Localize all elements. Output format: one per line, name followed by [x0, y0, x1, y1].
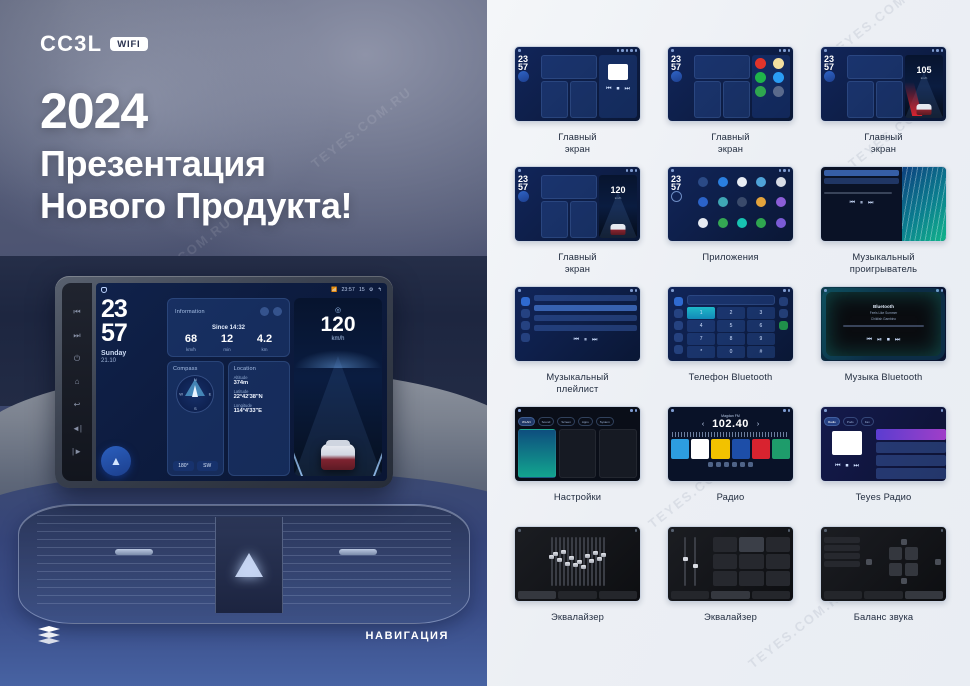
gallery-item[interactable]: Баланс звука	[813, 526, 954, 646]
information-card	[541, 55, 597, 79]
thumbnail-caption: Телефон Bluetooth	[689, 371, 773, 383]
gear-icon	[941, 529, 944, 532]
compass-title: Compass	[173, 366, 218, 372]
dial-key: #	[747, 346, 775, 358]
clock-date: 21.10	[101, 358, 163, 364]
home-icon	[671, 49, 674, 52]
app-icon-dvr	[734, 197, 750, 215]
home-icon	[824, 289, 827, 292]
track-row	[534, 325, 637, 331]
wifi-icon	[932, 49, 935, 52]
stat-value: 68	[185, 334, 197, 345]
eq-slider	[684, 537, 686, 586]
option-row	[824, 561, 860, 567]
caption-line1: Настройки	[554, 491, 601, 503]
navigation-button	[518, 191, 529, 202]
air-vent-panel	[18, 504, 470, 624]
thumb-status-bar	[821, 527, 946, 534]
navigation-button	[671, 71, 682, 82]
wifi-icon	[779, 169, 782, 172]
gallery-item[interactable]: 23 57	[813, 46, 954, 166]
thumb-clock: 23 57	[518, 175, 539, 238]
preset-pad	[713, 571, 737, 586]
eq-slider	[579, 537, 581, 586]
gear-icon	[635, 289, 638, 292]
thumb-status-bar	[821, 47, 946, 54]
star-icon	[779, 297, 788, 306]
widgets-column: Information Since 14:32 68 km/h	[167, 298, 290, 476]
thumbnail-caption: Главный экран	[864, 131, 902, 154]
thumb-status-bar	[515, 47, 640, 54]
speed-unit: km/h	[599, 196, 637, 200]
app-icon-youtube	[755, 58, 766, 69]
screen-thumbnail[interactable]: 23 57	[667, 166, 794, 242]
speed-unit: km/h	[905, 76, 943, 80]
balance-options	[824, 537, 860, 586]
app-icon-filemanager	[753, 197, 769, 215]
tab-sound	[711, 591, 749, 599]
clock-icon	[621, 49, 624, 52]
screen-thumbnail[interactable]: 23 57 120	[514, 166, 641, 242]
gallery-item[interactable]: WLAN Sound Screen Apps System	[507, 406, 648, 526]
playback-controls: ⏮ ⏯ ⏹ ⏭	[867, 337, 901, 344]
speed-panel: 120 km/h	[599, 175, 637, 238]
compass-s: S	[194, 406, 197, 411]
thumb-widget-row	[847, 81, 903, 118]
seat-front-right	[905, 547, 918, 560]
now-playing: ⏮ ⏹ ⏭	[821, 429, 873, 479]
app-drawer	[694, 175, 790, 238]
app-icon-maps	[773, 72, 784, 83]
information-card	[694, 55, 750, 79]
option-row	[824, 545, 860, 551]
compass-card[interactable]: Compass N S W E 180°	[167, 361, 224, 476]
home-icon	[824, 49, 827, 52]
thumb-clock: 23 57	[671, 55, 692, 118]
thumb-clock-minutes: 57	[671, 183, 692, 191]
preset-pads	[713, 537, 790, 586]
seat-grid	[889, 547, 918, 576]
speed-value: 120	[599, 185, 637, 195]
tab-sound	[864, 591, 902, 599]
caption-line1: Музыка Bluetooth	[845, 371, 923, 383]
track-row	[534, 315, 637, 321]
play-pause-icon: ⏯	[877, 337, 882, 344]
caption-line1: Музыкальный	[850, 251, 917, 263]
compass-dial: N S W E	[176, 375, 214, 413]
screen-thumbnail[interactable]: Radio Pods Fav ⏮ ⏹ ⏭	[820, 406, 947, 482]
preset-pad	[739, 537, 763, 552]
back-button	[671, 191, 682, 202]
option-row	[824, 537, 860, 543]
thumbnail-caption: Настройки	[554, 491, 601, 503]
thumb-status-bar	[668, 167, 793, 174]
playlist-sidebar	[518, 295, 532, 358]
thumb-widgets	[694, 55, 750, 118]
track-artist: Childish Gambino	[871, 317, 896, 321]
gallery-item[interactable]: Bluetooth Feels Like Summer Childish Gam…	[813, 286, 954, 406]
thumb-clock-minutes: 57	[671, 63, 692, 71]
settings-tabs: WLAN Sound Screen Apps System	[515, 414, 640, 429]
screen-thumbnail[interactable]: 1 2 3 4 5 6 7 8 9 * 0 #	[667, 286, 794, 362]
preset-4	[732, 439, 750, 459]
gallery-item[interactable]: 1 2 3 4 5 6 7 8 9 * 0 #	[660, 286, 801, 406]
back-arrow-icon	[635, 49, 638, 52]
widgets-row: Compass N S W E 180°	[167, 361, 290, 476]
hazard-button[interactable]	[215, 517, 283, 613]
dialer-actions	[777, 295, 790, 358]
tab-system: System	[596, 417, 614, 426]
vent-knob-right[interactable]	[339, 549, 377, 555]
gallery-item[interactable]: Magdan FM ‹ 102.40 ›	[660, 406, 801, 526]
sidebar-item-recents	[674, 333, 683, 342]
thumbnail-caption: Музыкальный плейлист	[546, 371, 608, 394]
preset-2	[691, 439, 709, 459]
information-card[interactable]: Information Since 14:32 68 km/h	[167, 298, 290, 357]
expand-icon[interactable]	[273, 307, 282, 316]
app-icon-music	[734, 218, 750, 236]
thumbnail-caption: Teyes Радио	[856, 491, 912, 503]
app-icon-gmaps	[695, 218, 711, 236]
screen-thumbnail[interactable]: WLAN Sound Screen Apps System	[514, 406, 641, 482]
screen-thumbnail[interactable]: ⏮ ⏸ ⏭	[514, 286, 641, 362]
gear-icon	[635, 409, 638, 412]
sidebar-item-settings	[674, 345, 683, 354]
clock-minutes: 57	[101, 322, 163, 346]
caption-line2: экран	[864, 143, 902, 155]
eq-slider	[571, 537, 573, 586]
layers-icon	[38, 626, 60, 646]
wifi-badge: WIFI	[110, 37, 147, 51]
screen-thumbnail[interactable]: Bluetooth Feels Like Summer Childish Gam…	[820, 286, 947, 362]
tab-apps: Apps	[578, 417, 593, 426]
gear-icon	[788, 289, 791, 292]
gallery-item[interactable]: 23 57	[660, 166, 801, 286]
sidebar-item-dialpad	[674, 297, 683, 306]
stop-icon: ⏹	[845, 463, 848, 470]
next-icon: ⏭	[868, 200, 873, 207]
balance-screen	[821, 534, 946, 601]
preset-pad	[739, 571, 763, 586]
sidebar-item-search	[674, 321, 683, 330]
caption-line1: Главный	[558, 131, 596, 143]
head-unit-device: ⏮ ⏭ ⏻ ⌂ ↩ ◄| |► 📶 23:57 15 ⚙ ↰	[55, 276, 393, 488]
power-button[interactable]: ⏻	[74, 355, 80, 363]
caption-line2: экран	[558, 263, 596, 275]
dial-key: 5	[717, 320, 745, 332]
prev-icon: ⏮	[606, 86, 611, 93]
gallery-item[interactable]: 23 57	[660, 46, 801, 166]
radio-dock	[668, 459, 793, 467]
pause-icon: ⏸	[860, 200, 863, 207]
playback-controls: ⏮ ⏸ ⏭	[534, 337, 637, 344]
thumbnail-caption: Приложения	[702, 251, 758, 263]
compass-card	[847, 81, 874, 118]
clock-weekday: Sunday	[101, 350, 163, 357]
dial-key: 2	[717, 307, 745, 319]
level-sliders	[671, 537, 709, 586]
arrow-left-icon	[866, 559, 872, 565]
sidebar-item-artists	[521, 309, 530, 318]
caption-line2: проигрыватель	[850, 263, 917, 275]
compass-heading: 180°	[173, 461, 194, 471]
next-icon: ⏭	[625, 86, 630, 93]
settings-screen: WLAN Sound Screen Apps System	[515, 414, 640, 481]
music-player-screen: ⏮ ⏸ ⏭	[821, 167, 946, 241]
home-icon	[518, 529, 521, 532]
back-button[interactable]: ↩	[74, 401, 81, 409]
app-icon-playstore	[753, 218, 769, 236]
gear-icon	[936, 49, 939, 52]
thumbnail-caption: Баланс звука	[854, 611, 914, 623]
dock-icon	[724, 462, 729, 467]
compass-n: N	[194, 377, 197, 382]
screen-thumbnail[interactable]	[667, 526, 794, 602]
trip-stats: 68 km/h 12 min 4.2 km	[173, 334, 284, 352]
gallery-item[interactable]: ⏮ ⏸ ⏭ Музыкальный плейлист	[507, 286, 648, 406]
head-unit-screen[interactable]: 📶 23:57 15 ⚙ ↰ 23 57 Sunday 21.10 ▲	[96, 283, 387, 481]
settings-tiles	[515, 429, 640, 481]
app-icon-gallery	[773, 197, 789, 215]
stat-value: 12	[221, 334, 233, 345]
speed-unit: km/h	[294, 336, 382, 342]
volume-down-button[interactable]: ◄|	[72, 425, 82, 433]
dial-key: 7	[687, 333, 715, 345]
thumb-body: 23 57	[515, 54, 640, 121]
tab-display: Screen	[557, 417, 575, 426]
playback-controls: ⏮ ⏹ ⏭	[821, 463, 873, 470]
gear-icon	[788, 529, 791, 532]
thumb-widgets	[541, 55, 597, 118]
thumb-clock-minutes: 57	[824, 63, 845, 71]
stop-icon: ⏹	[887, 337, 890, 344]
phone-sidebar	[671, 295, 685, 358]
stat-value: 4.2	[257, 334, 272, 345]
radio-screen: Magdan FM ‹ 102.40 ›	[668, 414, 793, 481]
thumbnail-caption: Музыка Bluetooth	[845, 371, 923, 383]
hazard-triangle-icon	[235, 553, 263, 577]
home-icon	[824, 529, 827, 532]
caption-line1: Teyes Радио	[856, 491, 912, 503]
preset-pad	[713, 554, 737, 569]
thumbnail-caption: Главный экран	[558, 251, 596, 274]
stat-unit: km	[257, 347, 272, 352]
head-unit-side-buttons[interactable]: ⏮ ⏭ ⏻ ⌂ ↩ ◄| |►	[62, 283, 92, 481]
tab-eq	[671, 591, 709, 599]
progress-bar	[824, 192, 892, 194]
location-card	[570, 201, 597, 238]
preset-pad	[766, 554, 790, 569]
gallery-item[interactable]: Эквалайзер	[507, 526, 648, 646]
navigation-button[interactable]: ▲	[101, 446, 131, 476]
teyes-radio-tabs: Radio Pods Fav	[821, 414, 946, 429]
stat-unit: min	[221, 347, 233, 352]
playlist-rows: ⏮ ⏸ ⏭	[534, 295, 637, 358]
playback-controls: ⏮ ⏸ ⏭	[824, 200, 899, 207]
tab-sound: Sound	[538, 417, 555, 426]
wifi-tile	[518, 429, 556, 478]
gallery-item[interactable]: 23 57 120	[507, 166, 648, 286]
speed-panel[interactable]: ◎ 120 km/h	[294, 298, 382, 476]
bluetooth-label: Bluetooth	[873, 304, 894, 309]
dock-icon	[708, 462, 713, 467]
screen-thumbnail[interactable]	[514, 526, 641, 602]
clock-widget[interactable]: 23 57 Sunday 21.10 ▲	[101, 298, 163, 476]
eq-slider	[583, 537, 585, 586]
home-button[interactable]: ⌂	[75, 378, 80, 386]
clock-hours: 23	[101, 298, 163, 322]
pause-icon: ⏸	[584, 337, 587, 344]
thumb-body: 23 57 120	[515, 174, 640, 241]
album-art	[608, 64, 628, 80]
thumb-status-bar	[668, 407, 793, 414]
next-icon: ⏭	[854, 463, 859, 470]
navigation-button	[824, 71, 835, 82]
app-icon-chrome	[695, 197, 711, 215]
home-icon	[671, 289, 674, 292]
balance-body	[821, 534, 946, 589]
longitude-value: 114°4'33"E	[234, 408, 284, 414]
gallery-item[interactable]: ⏮ ⏸ ⏭ Музыкальный проигрыватель	[813, 166, 954, 286]
caption-line1: Радио	[717, 491, 745, 503]
back-arrow-icon	[941, 49, 944, 52]
refresh-icon[interactable]	[260, 307, 269, 316]
wifi-icon	[783, 289, 786, 292]
navigation-label: НАВИГАЦИЯ	[366, 630, 449, 642]
location-card	[723, 81, 750, 118]
home-icon	[518, 49, 521, 52]
backspace-icon	[779, 309, 788, 318]
latitude-row: Latitude 22°42'38"N	[234, 389, 284, 400]
stat-unit: km/h	[185, 347, 197, 352]
home-icon[interactable]	[101, 287, 107, 293]
tab-wifi: WLAN	[518, 417, 535, 426]
seat-front-left	[889, 547, 902, 560]
dock-icon	[748, 462, 753, 467]
presentation-slide: TEYES.COM.RU TEYES.COM.RU TEYES.COM.RU T…	[0, 0, 970, 686]
dial-key: 4	[687, 320, 715, 332]
screen-thumbnail[interactable]: ⏮ ⏸ ⏭	[820, 166, 947, 242]
app-icon-bluetooth-music	[734, 177, 750, 195]
thumb-clock-minutes: 57	[518, 63, 539, 71]
gallery-item[interactable]: Radio Pods Fav ⏮ ⏹ ⏭	[813, 406, 954, 526]
screen-thumbnail[interactable]: 23 57	[667, 46, 794, 122]
dock-icon	[740, 462, 745, 467]
home-screen-body: 23 57 Sunday 21.10 ▲ Information	[96, 296, 387, 481]
compass-direction: SW	[197, 461, 218, 471]
call-icon	[779, 321, 788, 330]
eq-slider	[567, 537, 569, 586]
back-arrow-icon	[788, 169, 791, 172]
balance-pad	[864, 537, 943, 586]
track-title: Feels Like Summer	[870, 311, 897, 315]
wifi-icon	[617, 49, 620, 52]
tab-fade	[752, 591, 790, 599]
longitude-row: Longitude 114°4'33"E	[234, 403, 284, 414]
prev-icon: ⏮	[850, 200, 855, 207]
seat-rear-left	[889, 563, 902, 576]
station-row	[876, 442, 946, 453]
next-button[interactable]: ⏭	[73, 332, 80, 340]
prev-button[interactable]: ⏮	[73, 308, 80, 316]
gear-icon	[783, 169, 786, 172]
home-icon	[671, 529, 674, 532]
app-icon-camera	[773, 177, 789, 195]
car-3d-model	[611, 224, 626, 235]
back-arrow-icon[interactable]: ↰	[378, 287, 382, 293]
screen-thumbnail[interactable]: 23 57	[514, 46, 641, 122]
compass-card	[541, 81, 568, 118]
caption-line1: Эквалайзер	[704, 611, 757, 623]
gallery-item[interactable]: Эквалайзер	[660, 526, 801, 646]
prev-icon: ⏮	[835, 463, 840, 470]
frequency-scale	[672, 432, 789, 437]
seat-rear-right	[905, 563, 918, 576]
thumb-body: 23 57	[668, 174, 793, 241]
speed-value: 105	[905, 65, 943, 75]
eq-slider	[599, 537, 601, 586]
gear-icon	[788, 409, 791, 412]
dialer-body: 1 2 3 4 5 6 7 8 9 * 0 #	[687, 295, 775, 358]
back-arrow-icon	[788, 49, 791, 52]
volume-level[interactable]: 15	[359, 287, 365, 293]
app-icon-play	[755, 86, 766, 97]
vent-knob-left[interactable]	[115, 549, 153, 555]
equalizer-tabs	[668, 589, 793, 601]
dial-key: 6	[747, 320, 775, 332]
thumbnail-caption: Эквалайзер	[704, 611, 757, 623]
track-row	[534, 295, 637, 301]
app-icon-browser	[773, 58, 784, 69]
volume-up-button[interactable]: |►	[72, 448, 82, 456]
screen-thumbnail[interactable]	[820, 526, 947, 602]
tab-eq	[518, 591, 556, 599]
prev-icon: ⏮	[867, 337, 872, 344]
caption-line1: Главный	[864, 131, 902, 143]
location-card	[876, 81, 903, 118]
wifi-icon	[630, 409, 633, 412]
compass-w: W	[179, 392, 183, 397]
eq-slider	[595, 537, 597, 586]
sidebar-item-tracks	[521, 297, 530, 306]
hero-panel: TEYES.COM.RU TEYES.COM.RU TEYES.COM.RU T…	[0, 0, 487, 686]
station-row	[876, 429, 946, 440]
prev-icon: ⏮	[574, 337, 579, 344]
screen-thumbnail[interactable]: Magdan FM ‹ 102.40 ›	[667, 406, 794, 482]
thumbnail-caption: Главный экран	[711, 131, 749, 154]
dial-key: 8	[717, 333, 745, 345]
gear-icon	[630, 49, 633, 52]
headline-line1: Презентация	[40, 143, 470, 185]
tab-podcasts: Pods	[843, 417, 858, 426]
app-shortcuts	[752, 55, 790, 118]
gallery-item[interactable]: 23 57	[507, 46, 648, 166]
preset-1	[671, 439, 689, 459]
caption-line1: Баланс звука	[854, 611, 914, 623]
track-list: ⏮ ⏸ ⏭	[821, 167, 902, 241]
gear-icon[interactable]: ⚙	[369, 287, 374, 293]
preset-6	[772, 439, 790, 459]
bluetooth-music-card: Bluetooth Feels Like Summer Childish Gam…	[826, 292, 941, 356]
album-art	[832, 431, 862, 455]
tab-favorites: Fav	[861, 417, 874, 426]
tab-fade	[905, 591, 943, 599]
thumb-status-bar	[515, 407, 640, 414]
screen-thumbnail[interactable]: 23 57	[820, 46, 947, 122]
wifi-icon[interactable]: 📶	[331, 287, 337, 293]
location-card[interactable]: Location Altitude 374m Latitude 22°42'38…	[228, 361, 290, 476]
car-3d-model	[917, 104, 932, 115]
